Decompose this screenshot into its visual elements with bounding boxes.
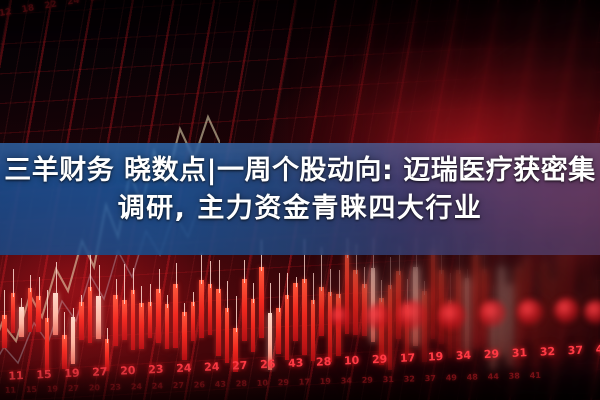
candle-bar (559, 254, 563, 360)
candle-wick (339, 270, 340, 297)
candle-wick (407, 279, 408, 309)
candle-bar (362, 284, 366, 336)
candle-bar (388, 285, 392, 370)
candle-wick (596, 274, 597, 284)
candle-wick (279, 273, 280, 311)
candle-wick (493, 285, 494, 311)
axis-tick-label: 20 (84, 383, 105, 393)
axis-tick-label: 43 (281, 356, 310, 370)
axis-tick-label: 17 (294, 377, 315, 387)
bokeh-dot (397, 300, 427, 330)
candle-wick (287, 273, 288, 298)
candle-wick (579, 287, 580, 300)
axis-tick-label: 28 (231, 379, 252, 389)
axis-tick-label: 28 (309, 355, 338, 369)
candle-bar (422, 291, 426, 363)
axis-tick-label: 44 (483, 372, 504, 382)
axis-tick-label: 29 (365, 352, 394, 366)
candle-bar (336, 294, 340, 357)
candle-wick (467, 269, 468, 282)
candle-wick (253, 283, 254, 303)
candle-bar (456, 270, 460, 353)
axis-tick-label: 37 (420, 374, 441, 384)
candle-bar (293, 283, 297, 341)
candle-bar (353, 270, 357, 336)
axis-tick-label: 32 (533, 345, 562, 359)
axis-tick-label: 24 (147, 381, 168, 391)
axis-tick-label: 27 (168, 381, 189, 391)
candle-bar (242, 279, 246, 342)
axis-tick-label: 48 (462, 373, 483, 383)
candle-bar (413, 267, 417, 346)
axis-tick-label: 29 (477, 347, 506, 361)
axis-tick-label: 26 (84, 0, 108, 5)
axis-tick-label: 15 (21, 385, 42, 395)
candle-bar (302, 279, 306, 355)
axis-tick-row-top: 12182224262830323827302728262219 (0, 0, 358, 20)
axis-tick-label: 26 (189, 380, 210, 390)
axis-tick-label: 19 (42, 384, 63, 394)
candle-wick (381, 280, 382, 302)
candle-bar (585, 248, 589, 345)
axis-tick-label: 34 (449, 348, 478, 362)
axis-tick-label: 12 (0, 6, 18, 20)
axis-tick-label: 18 (16, 2, 40, 16)
candle-wick (330, 269, 331, 296)
candle-wick (236, 296, 237, 332)
candle-bar (371, 268, 375, 343)
axis-tick-label: 24 (61, 0, 85, 8)
axis-tick-label: 34 (336, 376, 357, 386)
candle-bar (268, 313, 272, 370)
candle-wick (296, 277, 297, 287)
axis-tick-label: 29 (357, 375, 378, 385)
candle-bar (593, 280, 597, 371)
candle-wick (450, 273, 451, 304)
headline-text: 三羊财务 晓数点|一周个股动向: 迈瑞医疗获密集 调研, 主力资金青睐四大行业 (0, 152, 600, 228)
candle-bar (542, 262, 546, 354)
candle-wick (510, 268, 511, 289)
candle-bar (465, 278, 469, 354)
headline-line-2: 调研, 主力资金青睐四大行业 (0, 190, 600, 228)
axis-tick-label: 49 (441, 373, 462, 383)
axis-tick-label: 38 (504, 371, 525, 381)
banner-image: 12182224262830323827302728262219 1115192… (0, 0, 600, 400)
axis-tick-label: 37 (561, 343, 590, 357)
candle-wick (424, 281, 425, 295)
candle-bar (551, 279, 555, 365)
candle-bar (396, 271, 400, 340)
candle-bar (491, 307, 495, 370)
axis-tick-label: 17 (393, 351, 422, 365)
candle-wick (536, 272, 537, 310)
candle-bar (225, 308, 229, 363)
axis-tick-label: 28 (107, 0, 131, 1)
candle-bar (499, 267, 503, 355)
candle-bar (276, 308, 280, 354)
candle-bar (525, 258, 529, 341)
candle-bar (508, 285, 512, 365)
candle-bar (259, 267, 263, 339)
bokeh-dot (517, 299, 543, 325)
candle-bar (482, 269, 486, 348)
candle-wick (390, 257, 391, 289)
axis-tick-label: 41 (525, 371, 546, 381)
candle-wick (553, 253, 554, 283)
axis-tick-label: 22 (39, 0, 63, 12)
bokeh-dot (329, 306, 351, 328)
candle-bar (311, 300, 315, 361)
candle-bar (448, 300, 452, 358)
axis-tick-label: 19 (421, 350, 450, 364)
axis-tick-label: 31 (505, 346, 534, 360)
candle-bar (379, 298, 383, 365)
axis-tick-label: 23 (105, 382, 126, 392)
candle-bar (285, 295, 289, 361)
candle-bar (473, 253, 477, 348)
bokeh-dot (584, 300, 600, 324)
candle-bar (516, 267, 520, 368)
axis-tick-label: 49 (589, 342, 600, 356)
axis-tick-label: 11 (0, 385, 21, 395)
bokeh-dot (365, 304, 391, 330)
candle-wick (313, 273, 314, 303)
candle-wick (244, 260, 245, 282)
axis-tick-label: 24 (126, 382, 147, 392)
candle-bar (405, 305, 409, 360)
bokeh-dot (554, 298, 579, 323)
bokeh-dot (438, 302, 466, 330)
axis-tick-label: 29 (273, 378, 294, 388)
candle-wick (364, 267, 365, 288)
candle-bar (431, 250, 435, 339)
axis-tick-label: 10 (252, 378, 273, 388)
candle-wick (519, 259, 520, 271)
candle-bar (251, 299, 255, 351)
bokeh-dot (479, 300, 506, 327)
candle-bar (439, 270, 443, 345)
axis-tick-label: 19 (315, 377, 336, 387)
candle-bar (576, 296, 580, 366)
candle-wick (227, 281, 228, 312)
axis-tick-label: 26 (253, 357, 282, 371)
axis-tick-label: 27 (63, 384, 84, 394)
candle-bar (233, 328, 237, 372)
axis-tick-label: 27 (225, 359, 254, 373)
candle-bar (328, 292, 332, 362)
axis-tick-label: 31 (378, 375, 399, 385)
candle-bar (319, 287, 323, 336)
candle-bar (345, 254, 349, 334)
axis-tick-label: 32 (399, 374, 420, 384)
candle-bar (568, 250, 572, 338)
axis-tick-label: 10 (337, 353, 366, 367)
axis-tick-label: 43 (210, 380, 231, 390)
headline-line-1: 三羊财务 晓数点|一周个股动向: 迈瑞医疗获密集 (0, 152, 600, 190)
candle-wick (270, 283, 271, 316)
candle-bar (533, 306, 537, 372)
